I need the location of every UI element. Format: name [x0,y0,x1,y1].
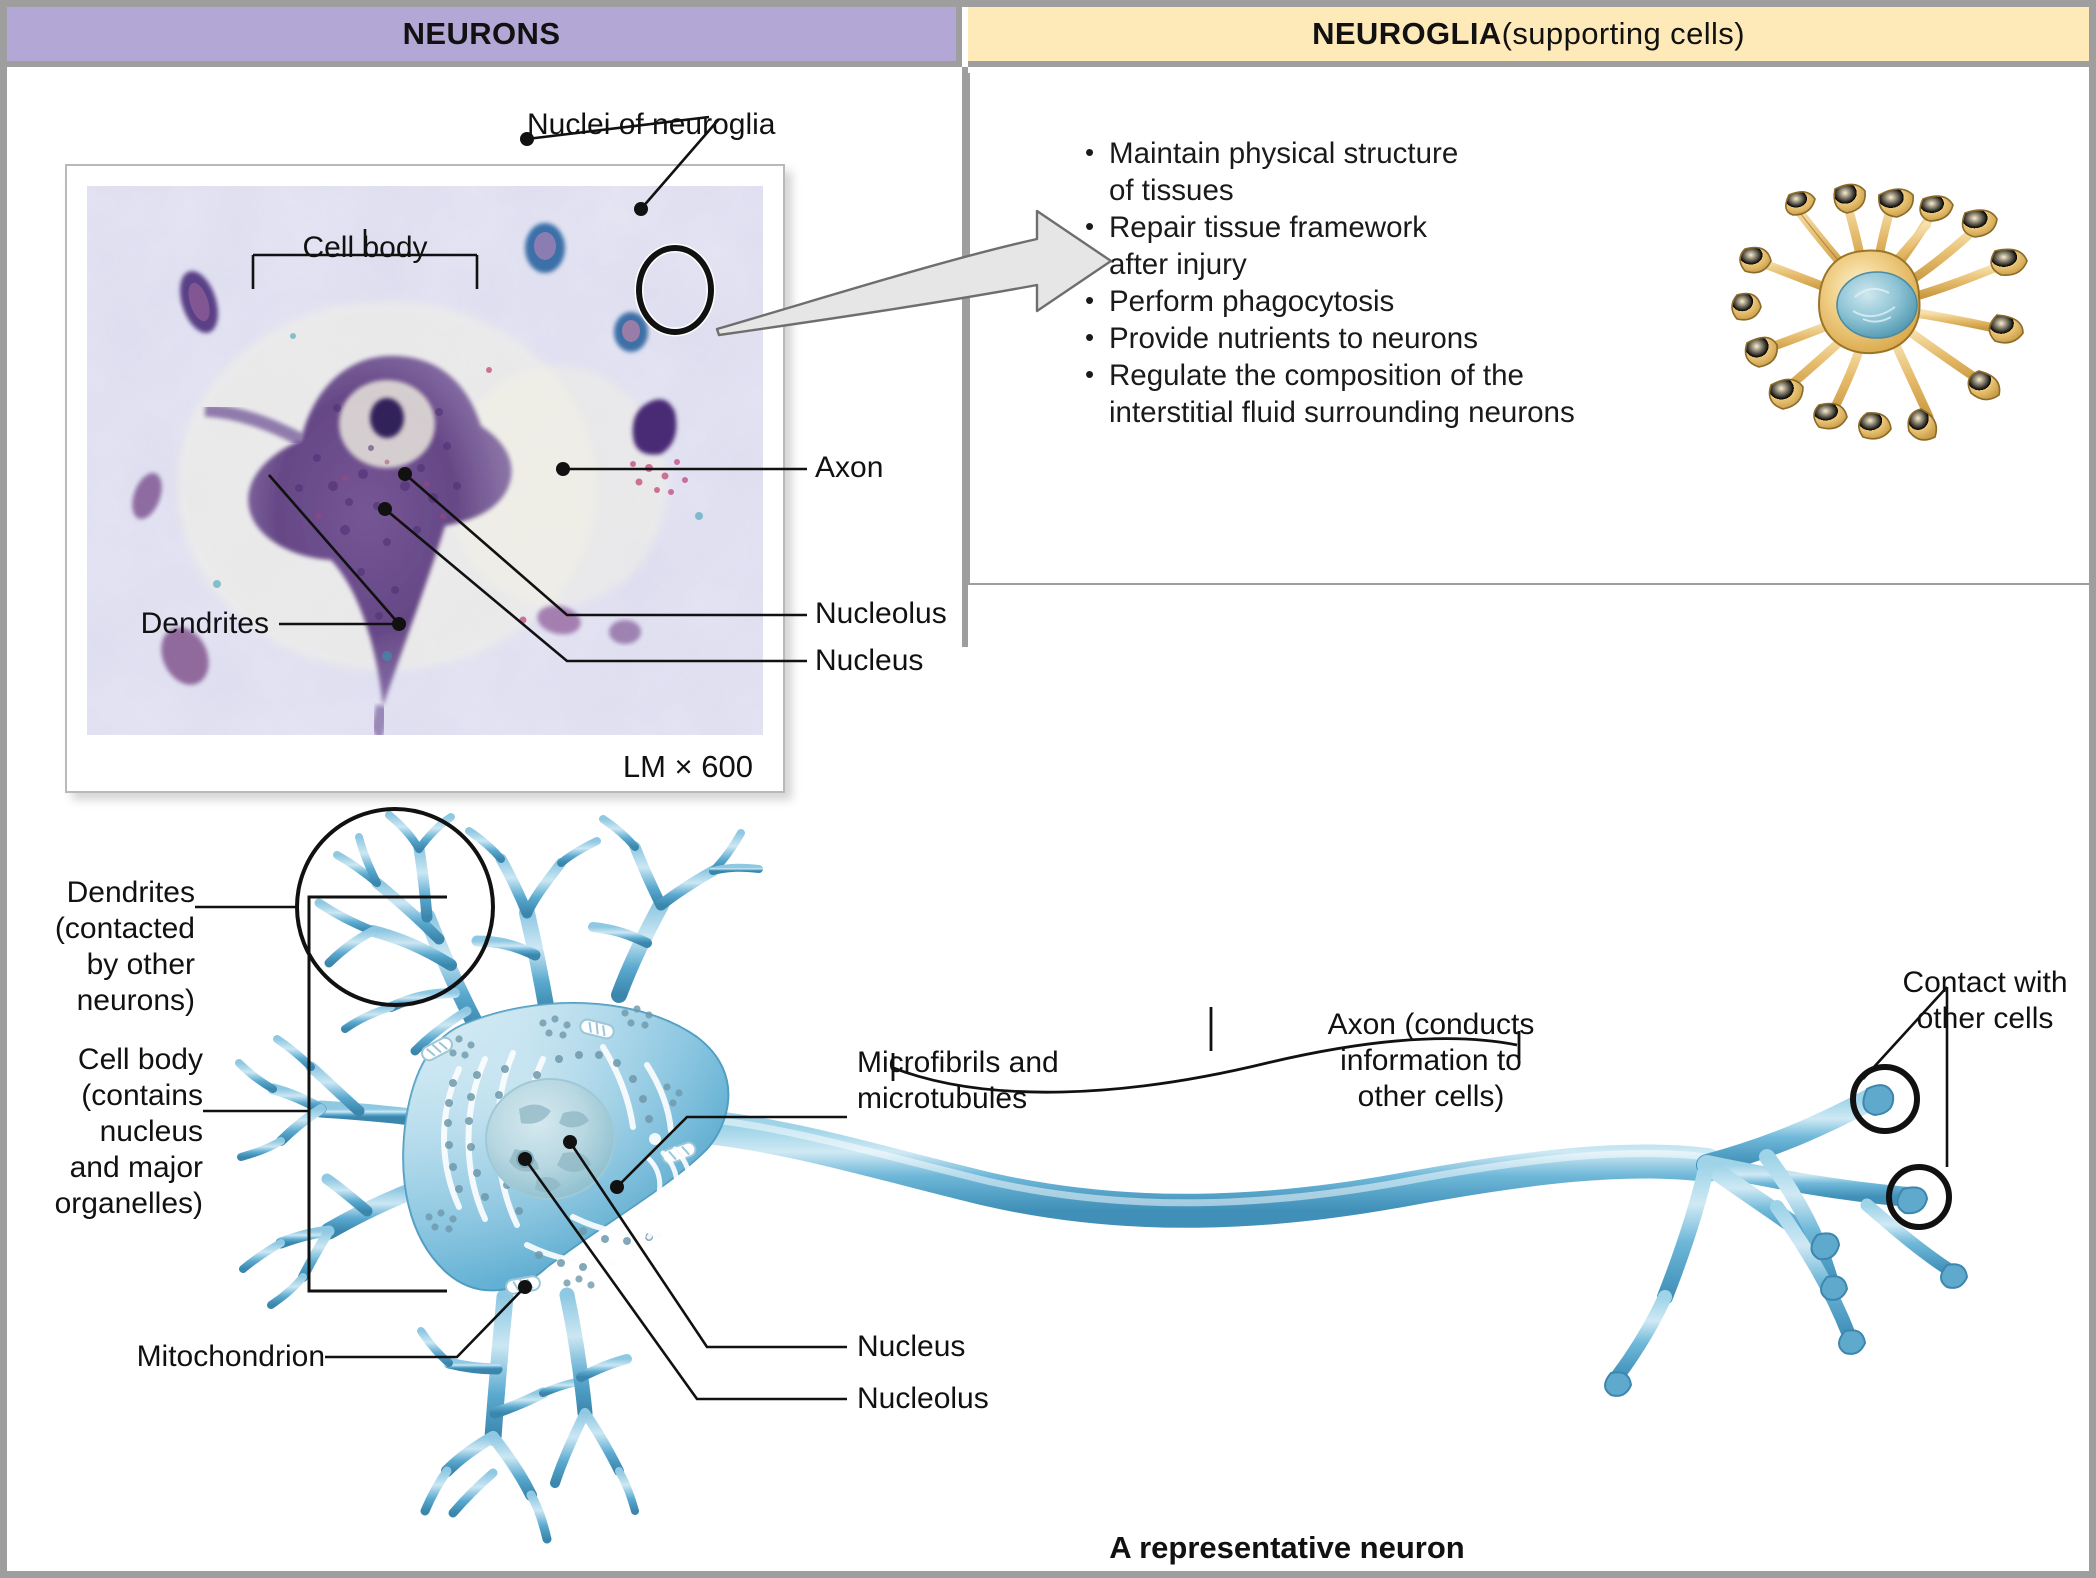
bullet-line-1: Perform phagocytosis [1109,285,1394,318]
connector-arrow-icon [707,177,1127,367]
label-nucleus-micrograph: Nucleus [815,643,923,679]
bullet-line-1: Repair tissue framework [1109,211,1427,244]
bullet-line-1: Maintain physical structure [1109,137,1458,170]
label-contact-other-cells: Contact with other cells [1879,965,2091,1037]
list-item: • Provide nutrients to neurons [1083,320,1683,357]
caption-line-1: A representative neuron [1057,1527,1517,1569]
bullet-icon: • [1085,134,1094,171]
representative-neuron-diagram [7,797,2096,1578]
header-neurons-label: NEURONS [403,16,561,52]
bullet-line-2: interstitial fluid surrounding neurons [1109,394,1683,431]
label-nuclei-of-neuroglia: Nuclei of neuroglia [527,107,775,143]
synaptic-bouton [1897,1187,1927,1213]
bullet-line-2: of tissues [1109,172,1683,209]
magnification-label: LM × 600 [623,749,753,785]
label-axon-micrograph: Axon [815,450,883,486]
label-cell-body-diagram: Cell body (contains nucleus and major or… [27,1042,203,1222]
axon-shaft [707,1127,1707,1211]
label-dendrites-diagram: Dendrites (contacted by other neurons) [27,875,195,1019]
list-item: • Repair tissue framework after injury [1083,209,1683,283]
astrocyte-nucleus [1837,272,1917,338]
label-nucleolus-diagram: Nucleolus [857,1381,989,1417]
list-item: • Perform phagocytosis [1083,283,1683,320]
header-neuroglia: NEUROGLIA (supporting cells) [968,7,2089,67]
label-cell-body: Cell body [273,230,457,266]
header-neurons: NEURONS [7,7,962,67]
bullet-line-1: Regulate the composition of the [1109,359,1524,392]
label-axon-diagram: Axon (conducts information to other cell… [1287,1007,1575,1115]
label-microfibrils-microtubules: Microfibrils and microtubules [857,1045,1059,1117]
neuroglia-bullet-list: • Maintain physical structure of tissues… [1083,135,1683,431]
bullet-line-2: after injury [1109,246,1683,283]
bullet-line-1: Provide nutrients to neurons [1109,322,1478,355]
diagram-caption: A representative neuron (sizes and shape… [1057,1443,1517,1578]
figure-root: NEURONS NEUROGLIA (supporting cells) • M… [0,0,2096,1578]
label-nucleolus-micrograph: Nucleolus [815,596,947,632]
label-mitochondrion: Mitochondrion [107,1339,325,1375]
list-item: • Maintain physical structure of tissues [1083,135,1683,209]
header-neuroglia-light: (supporting cells) [1502,16,1745,52]
label-nucleus-diagram: Nucleus [857,1329,965,1365]
astrocyte-illustration [1667,147,2057,467]
label-dendrites-micrograph: Dendrites [69,606,269,642]
synaptic-bouton [1863,1085,1893,1115]
header-neuroglia-bold: NEUROGLIA [1312,16,1502,52]
micrograph-image [87,186,763,735]
list-item: • Regulate the composition of the inters… [1083,357,1683,431]
